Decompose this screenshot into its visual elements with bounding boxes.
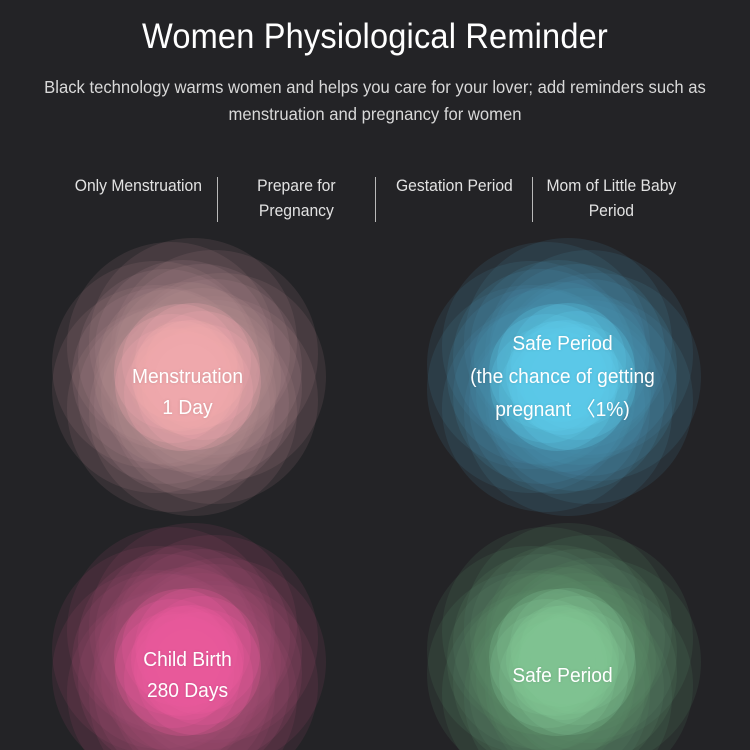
page-title: Women Physiological Reminder — [26, 14, 724, 60]
blob-menstruation[interactable]: Menstruation 1 Day — [0, 237, 375, 517]
category-gestation-period[interactable]: Gestation Period — [379, 172, 528, 199]
blob-grid: Menstruation 1 Day Safe Period (the chan… — [0, 232, 750, 750]
category-strip: Only Menstruation Prepare for Pregnancy … — [60, 172, 690, 232]
category-only-menstruation[interactable]: Only Menstruation — [64, 172, 213, 199]
blob-label-menstruation: Menstruation 1 Day — [8, 362, 368, 424]
category-divider-2 — [375, 177, 376, 222]
blob-label-child-birth: Child Birth 280 Days — [8, 645, 368, 707]
blob-child-birth[interactable]: Child Birth 280 Days — [0, 522, 375, 750]
blob-safe-period-detail[interactable]: Safe Period (the chance of getting pregn… — [375, 237, 750, 517]
page-subtitle: Black technology warms women and helps y… — [19, 74, 732, 128]
category-prepare-for-pregnancy[interactable]: Prepare for Pregnancy — [222, 172, 371, 224]
infographic-page: Women Physiological Reminder Black techn… — [0, 0, 750, 750]
blob-safe-period[interactable]: Safe Period — [375, 522, 750, 750]
header: Women Physiological Reminder Black techn… — [0, 0, 750, 128]
category-mom-of-little-baby-period[interactable]: Mom of Little Baby Period — [537, 172, 686, 224]
category-divider-1 — [217, 177, 218, 222]
blob-label-safe-period-detail: Safe Period (the chance of getting pregn… — [383, 328, 743, 427]
category-divider-3 — [532, 177, 533, 222]
blob-label-safe-period: Safe Period — [383, 661, 743, 692]
